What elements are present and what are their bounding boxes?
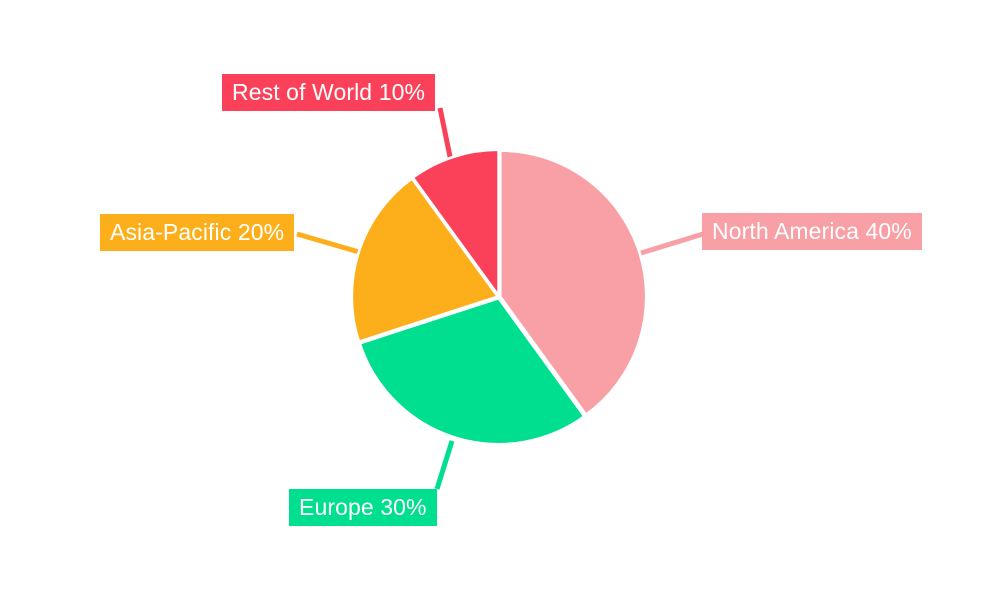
pie-slices <box>352 150 646 444</box>
pie-chart-canvas <box>0 0 1000 600</box>
pie-label-europe-text: Europe 30% <box>299 496 427 519</box>
pie-label-rest-of-world-text: Rest of World 10% <box>232 81 425 104</box>
leader-line-north-america <box>641 234 703 253</box>
pie-label-north-america[interactable]: North America 40% <box>702 213 922 250</box>
pie-label-rest-of-world[interactable]: Rest of World 10% <box>222 74 435 111</box>
leader-line-europe <box>437 441 452 489</box>
pie-label-europe[interactable]: Europe 30% <box>289 489 437 526</box>
pie-label-north-america-text: North America 40% <box>712 220 912 243</box>
pie-label-asia-pacific[interactable]: Asia-Pacific 20% <box>100 214 294 251</box>
leader-line-asia-pacific <box>297 234 359 252</box>
pie-chart-figure: North America 40% Europe 30% Asia-Pacifi… <box>0 0 1000 600</box>
pie-label-asia-pacific-text: Asia-Pacific 20% <box>110 221 284 244</box>
